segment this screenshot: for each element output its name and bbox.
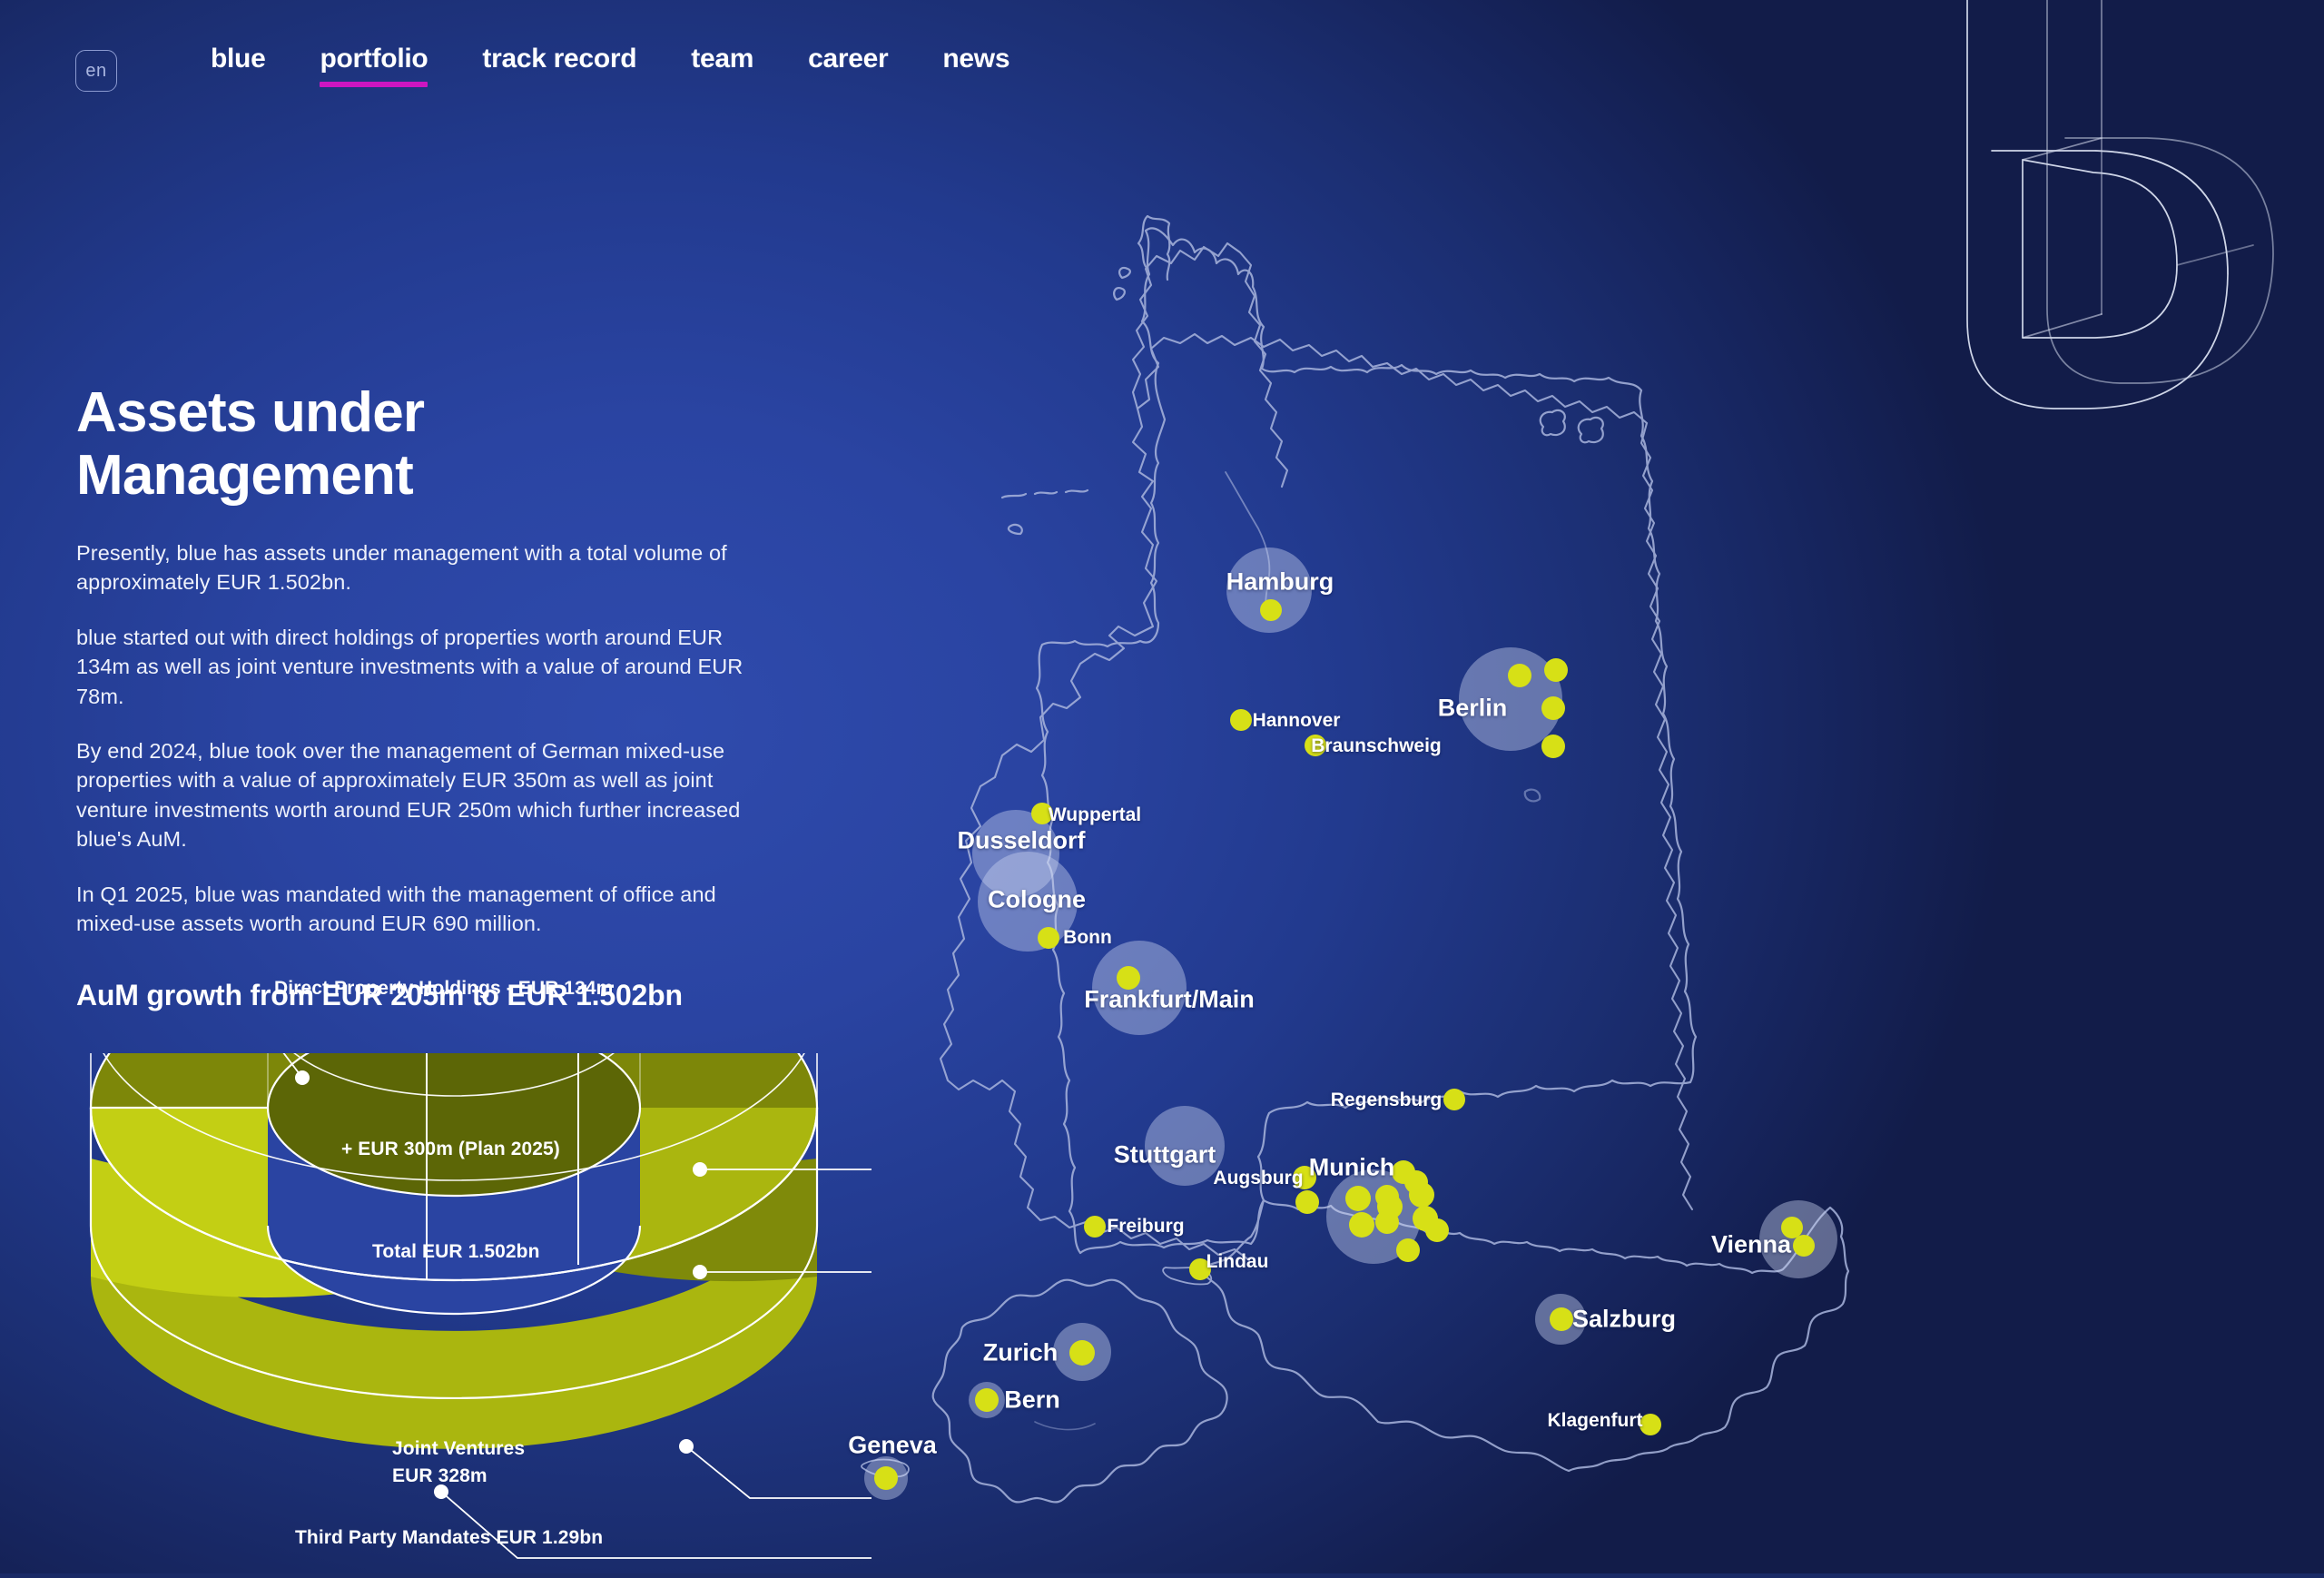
aum-donut-chart: Direct Property Holdings - EUR 134m + EU… <box>36 1053 871 1562</box>
nav-item-news[interactable]: news <box>942 44 1009 87</box>
city-marker-freiburg[interactable] <box>1084 1216 1106 1238</box>
nav-item-team[interactable]: team <box>691 44 753 87</box>
page-title: Assets under Management <box>76 381 793 508</box>
city-marker-bonn[interactable] <box>1038 927 1059 949</box>
city-marker-hamburg[interactable] <box>1260 599 1282 621</box>
callout-plan-2025: + EUR 300m (Plan 2025) <box>341 1139 560 1160</box>
page-title-line2: Management <box>76 444 413 507</box>
nav-item-portfolio[interactable]: portfolio <box>320 44 428 87</box>
city-marker-munich-6[interactable] <box>1409 1182 1434 1208</box>
city-label-wuppertal: Wuppertal <box>1049 804 1141 826</box>
city-label-salzburg: Salzburg <box>1572 1306 1676 1334</box>
nav-item-track-record[interactable]: track record <box>482 44 636 87</box>
paragraph-2024: By end 2024, blue took over the manageme… <box>76 736 766 854</box>
city-marker-geneva[interactable] <box>874 1466 898 1490</box>
city-label-klagenfurt: Klagenfurt <box>1548 1410 1643 1432</box>
city-marker-zurich[interactable] <box>1069 1340 1095 1366</box>
city-label-zurich: Zurich <box>983 1339 1059 1367</box>
callout-joint-ventures-line2: EUR 328m <box>392 1465 487 1487</box>
city-label-freiburg: Freiburg <box>1107 1216 1184 1238</box>
top-navigation: en blue portfolio track record team care… <box>0 0 2324 109</box>
city-marker-klagenfurt[interactable] <box>1640 1414 1661 1435</box>
city-marker-munich-10[interactable] <box>1425 1218 1449 1242</box>
city-marker-munich-8[interactable] <box>1375 1210 1399 1234</box>
chart-heading: AuM growth from EUR 205m to EUR 1.502bn <box>76 979 793 1012</box>
nav-item-blue[interactable]: blue <box>211 44 265 87</box>
city-label-lindau: Lindau <box>1206 1251 1269 1273</box>
city-marker-salzburg[interactable] <box>1550 1307 1573 1331</box>
city-label-dusseldorf: Dusseldorf <box>957 827 1085 855</box>
city-marker-hannover[interactable] <box>1230 709 1252 731</box>
page-root: en blue portfolio track record team care… <box>0 0 2324 1573</box>
city-label-munich: Munich <box>1309 1154 1395 1182</box>
city-marker-bern[interactable] <box>975 1388 999 1412</box>
language-switcher-button[interactable]: en <box>75 50 117 92</box>
callout-third-party-mandates: Third Party Mandates EUR 1.29bn <box>295 1527 603 1549</box>
nav-item-career[interactable]: career <box>808 44 888 87</box>
city-marker-berlin-3[interactable] <box>1541 696 1565 720</box>
city-marker-berlin-1[interactable] <box>1508 664 1531 687</box>
city-label-hannover: Hannover <box>1253 710 1341 732</box>
city-marker-munich-7[interactable] <box>1349 1212 1374 1238</box>
city-marker-vienna-2[interactable] <box>1793 1235 1815 1257</box>
callout-total: Total EUR 1.502bn <box>372 1241 540 1263</box>
city-marker-munich-11[interactable] <box>1396 1238 1420 1262</box>
page-title-line1: Assets under <box>76 381 424 444</box>
city-label-cologne: Cologne <box>988 886 1086 914</box>
city-label-braunschweig: Braunschweig <box>1311 735 1442 757</box>
city-label-regensburg: Regensburg <box>1331 1090 1443 1111</box>
city-label-bern: Bern <box>1004 1386 1060 1415</box>
city-marker-augsburg-2[interactable] <box>1295 1190 1319 1214</box>
city-label-stuttgart: Stuttgart <box>1114 1141 1216 1169</box>
city-marker-regensburg[interactable] <box>1443 1089 1465 1110</box>
city-label-augsburg: Augsburg <box>1213 1168 1303 1189</box>
city-label-bonn: Bonn <box>1063 927 1112 949</box>
paragraph-direct-holdings: blue started out with direct holdings of… <box>76 623 766 711</box>
city-marker-munich-3[interactable] <box>1345 1186 1371 1211</box>
nav-links: blue portfolio track record team career … <box>211 44 1064 87</box>
city-marker-berlin-4[interactable] <box>1541 735 1565 758</box>
city-marker-berlin-2[interactable] <box>1544 658 1568 682</box>
city-marker-munich-5[interactable] <box>1375 1185 1399 1208</box>
city-label-frankfurt-main: Frankfurt/Main <box>1084 986 1255 1014</box>
language-label: en <box>85 61 106 82</box>
city-label-vienna: Vienna <box>1711 1231 1791 1259</box>
city-label-berlin: Berlin <box>1438 695 1508 723</box>
callout-joint-ventures-line1: Joint Ventures <box>392 1438 525 1460</box>
city-label-hamburg: Hamburg <box>1226 568 1334 597</box>
paragraph-intro: Presently, blue has assets under managem… <box>76 538 748 597</box>
left-content-column: Assets under Management Presently, blue … <box>76 381 793 1012</box>
paragraph-q1-2025: In Q1 2025, blue was mandated with the m… <box>76 880 766 939</box>
